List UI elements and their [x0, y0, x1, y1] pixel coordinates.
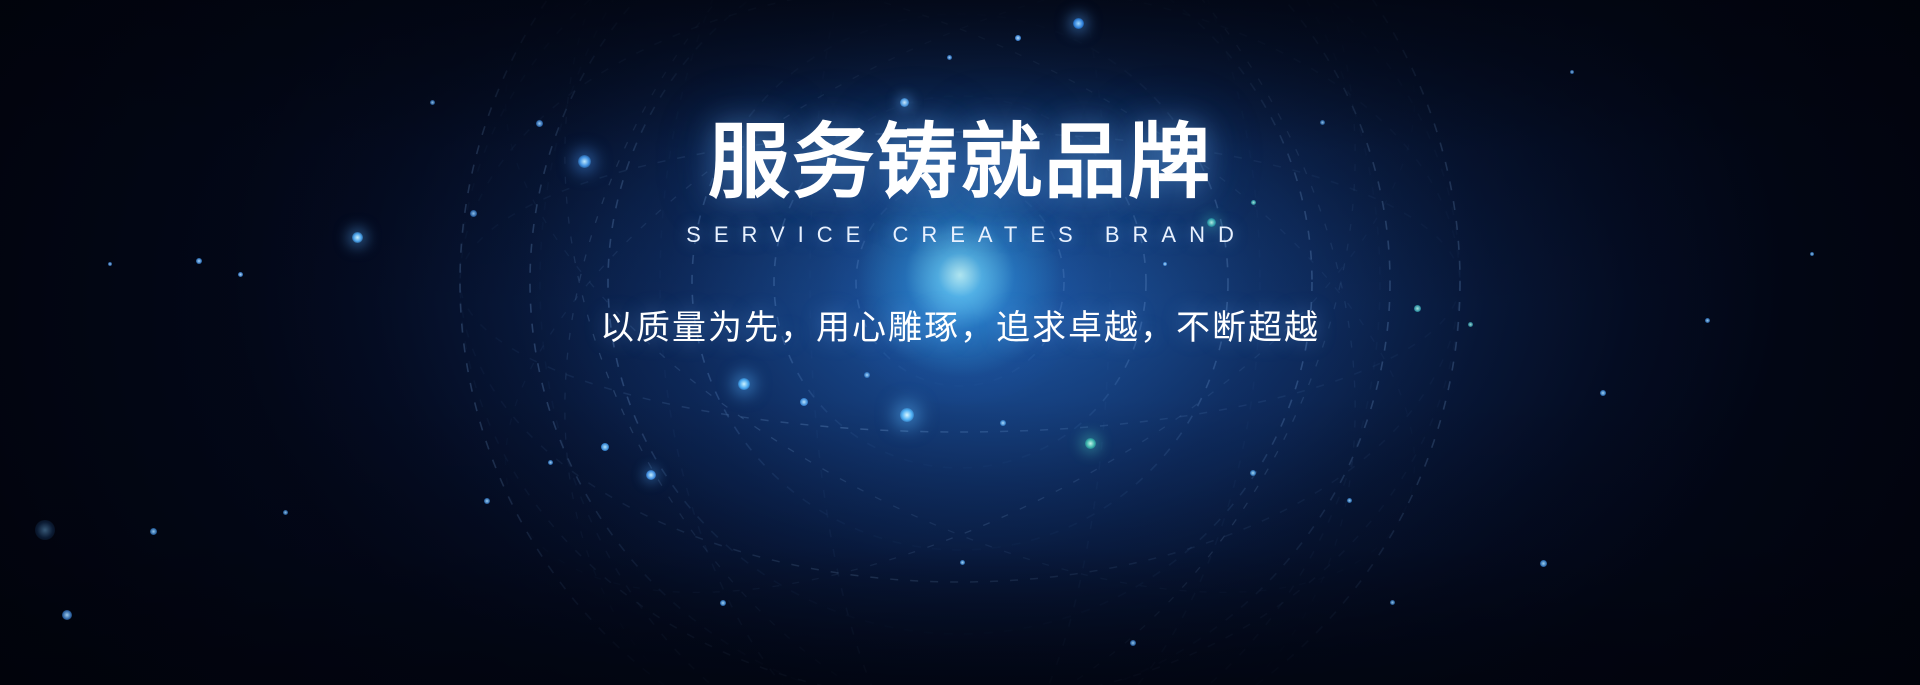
hero-banner: 服务铸就品牌 SERVICE CREATES BRAND 以质量为先，用心雕琢，…: [0, 0, 1920, 685]
banner-subtitle: SERVICE CREATES BRAND: [673, 222, 1247, 248]
banner-tagline: 以质量为先，用心雕琢，追求卓越，不断超越: [600, 300, 1320, 349]
banner-content: 服务铸就品牌 SERVICE CREATES BRAND 以质量为先，用心雕琢，…: [0, 0, 1920, 685]
banner-title: 服务铸就品牌: [708, 0, 1212, 206]
